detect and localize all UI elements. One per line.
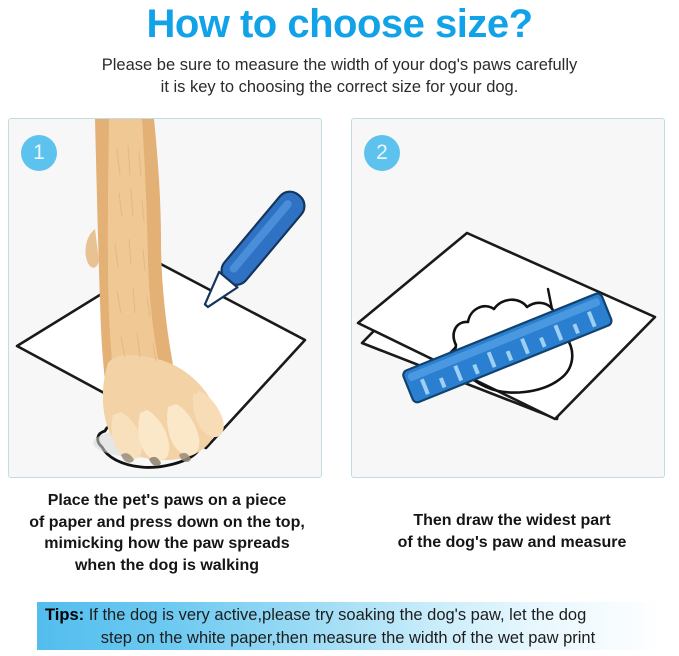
step-panel-1: 1: [8, 118, 322, 478]
caption-1-line-3: mimicking how the paw spreads: [0, 533, 334, 555]
step-panel-2: 2: [351, 118, 665, 478]
subtitle-line-1: Please be sure to measure the width of y…: [0, 54, 679, 76]
page-subtitle: Please be sure to measure the width of y…: [0, 54, 679, 98]
size-guide-infographic: How to choose size? Please be sure to me…: [0, 0, 679, 656]
step-caption-1: Place the pet's paws on a piece of paper…: [0, 490, 334, 576]
page-title: How to choose size?: [0, 2, 679, 46]
step-badge-2: 2: [364, 135, 400, 171]
tips-line-1-text: If the dog is very active,please try soa…: [84, 606, 586, 624]
step-badge-1: 1: [21, 135, 57, 171]
caption-1-line-1: Place the pet's paws on a piece: [0, 490, 334, 512]
subtitle-line-2: it is key to choosing the correct size f…: [0, 76, 679, 98]
blue-pen: [196, 186, 310, 314]
illustration-paw-tracing: [9, 119, 321, 477]
caption-1-line-2: of paper and press down on the top,: [0, 512, 334, 534]
tips-line-1: Tips: If the dog is very active,please t…: [45, 604, 651, 627]
caption-2-line-1: Then draw the widest part: [345, 510, 679, 532]
tips-line-2: step on the white paper,then measure the…: [45, 627, 651, 650]
illustration-paw-measuring: [352, 119, 664, 477]
caption-2-line-2: of the dog's paw and measure: [345, 532, 679, 554]
step-caption-2: Then draw the widest part of the dog's p…: [345, 510, 679, 553]
tips-label: Tips:: [45, 606, 84, 624]
caption-1-line-4: when the dog is walking: [0, 555, 334, 577]
tips-banner: Tips: If the dog is very active,please t…: [37, 602, 655, 650]
dog-dewclaw: [85, 229, 99, 268]
